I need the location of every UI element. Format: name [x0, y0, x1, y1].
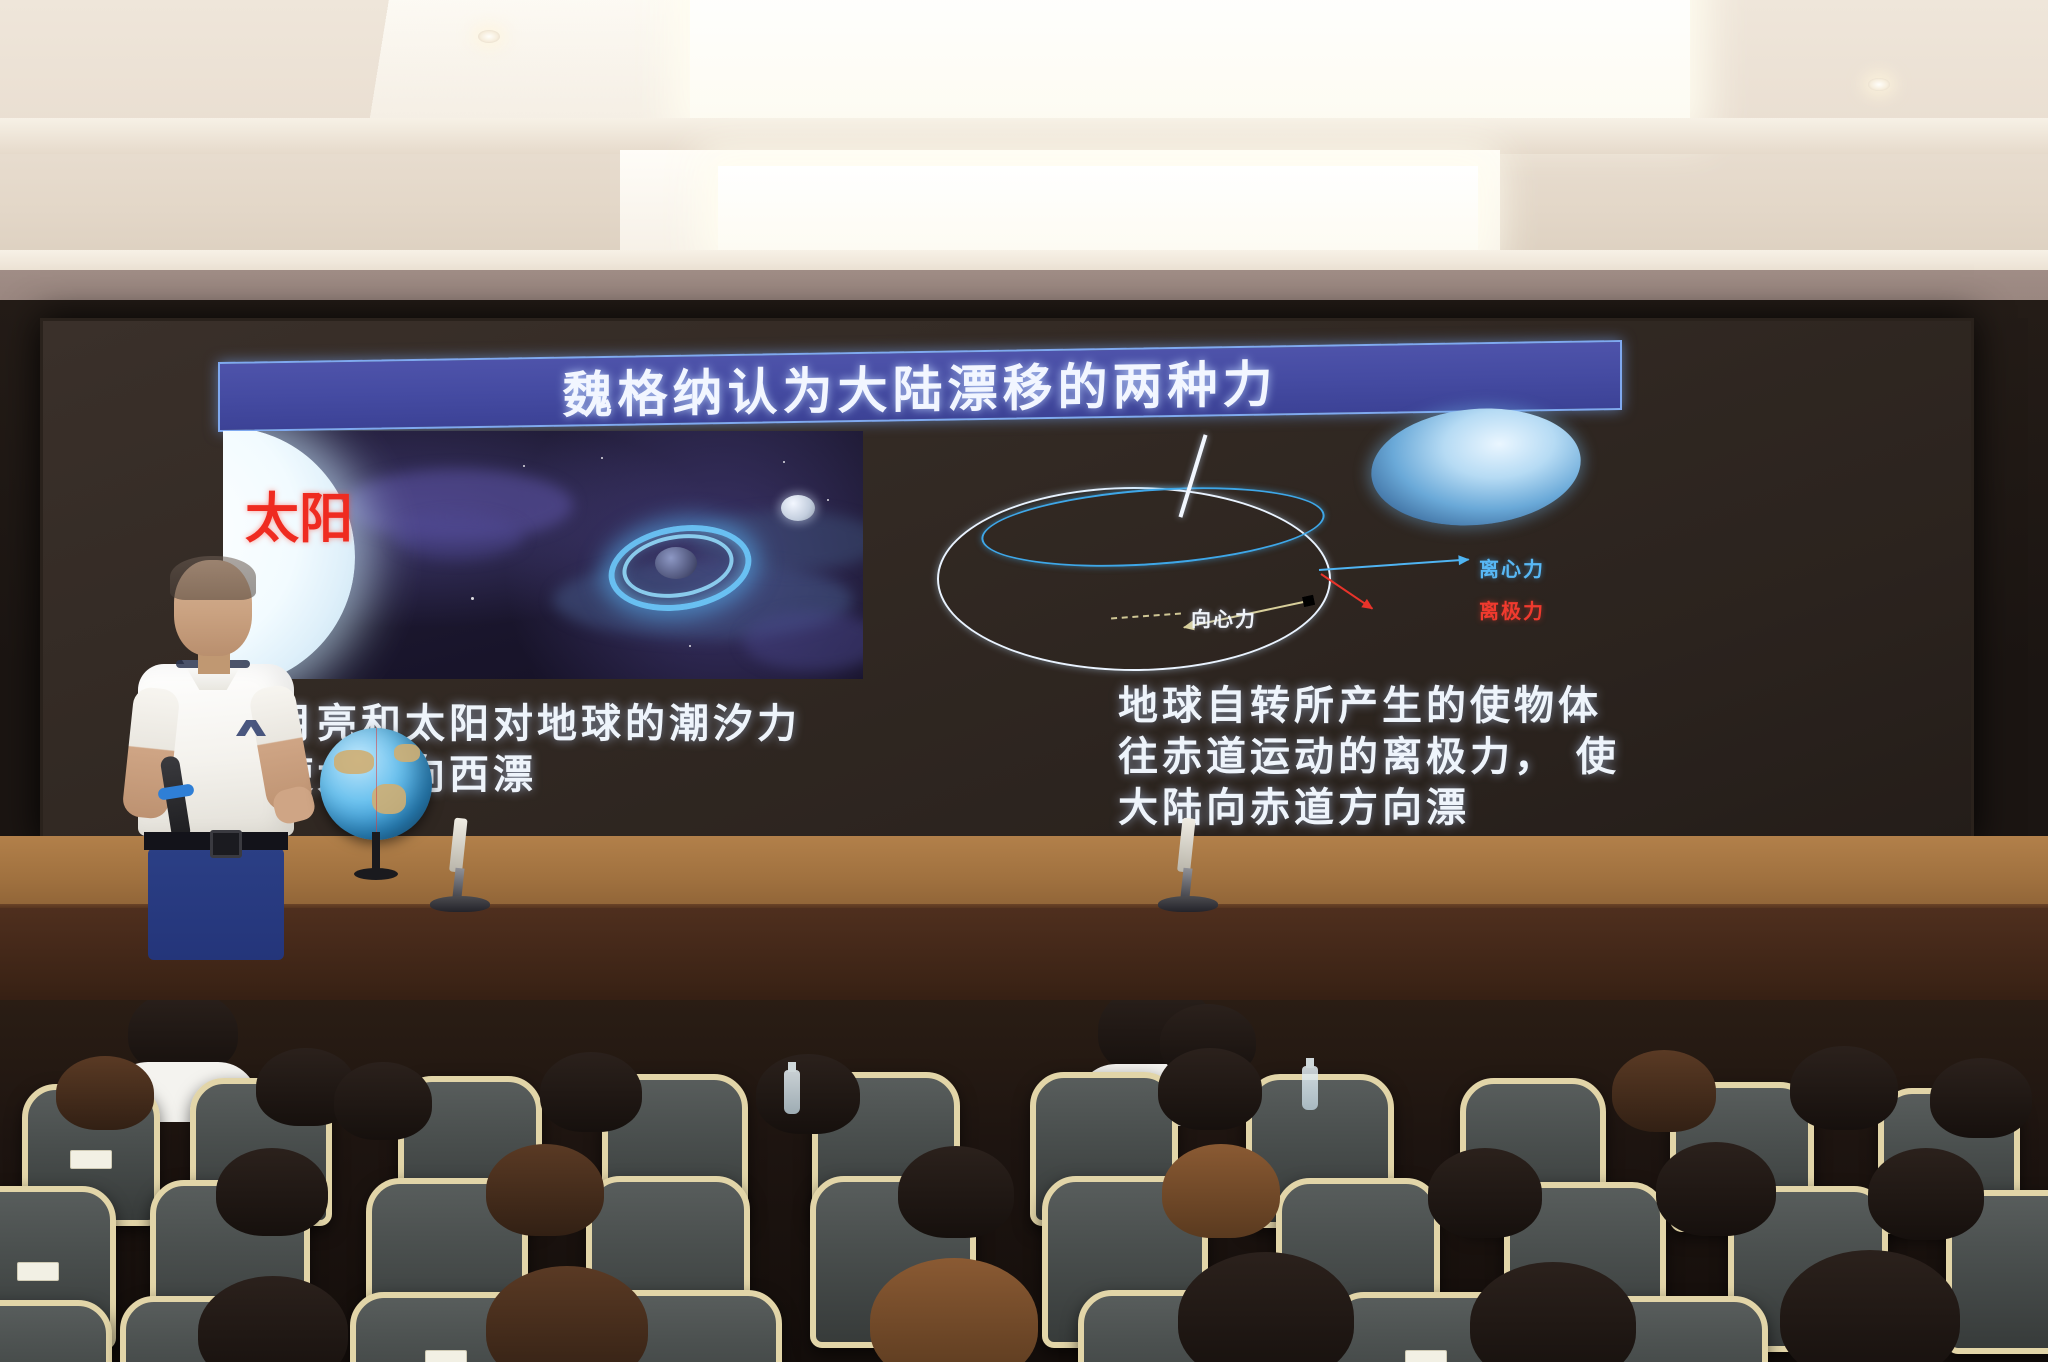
ceiling-light-panel-2 [718, 166, 1478, 252]
audience-head [1656, 1142, 1776, 1236]
globe-prop [320, 728, 432, 840]
sun-label: 太阳 [245, 493, 353, 545]
audience-head [540, 1052, 642, 1132]
lecture-hall-scene: 魏格纳认为大陆漂移的两种力 太阳 [0, 0, 2048, 1362]
seat[interactable] [0, 1300, 112, 1362]
ceiling-light-panel-1 [690, 0, 1690, 120]
water-bottle [784, 1070, 800, 1114]
ceiling [0, 0, 2048, 300]
downlight-icon [478, 30, 500, 43]
audience-head [756, 1054, 860, 1134]
nebula-cloud [393, 515, 523, 559]
polar-fleeing-force-label: 离极力 [1479, 595, 1545, 624]
audience-head [334, 1062, 432, 1140]
audience-head [1162, 1144, 1280, 1238]
desk-microphone [430, 812, 490, 912]
audience-head [1790, 1046, 1898, 1130]
audience-head [1868, 1148, 1984, 1240]
speaker-trousers [148, 848, 284, 960]
audience-head [898, 1146, 1014, 1238]
oblate-earth-icon [1366, 400, 1585, 534]
moon-body [781, 495, 815, 521]
audience-head [1930, 1058, 2032, 1138]
audience-head [486, 1144, 604, 1236]
centrifugal-force-arrow [1319, 559, 1469, 571]
slide-space-image: 太阳 [223, 431, 863, 679]
ceiling-beam-1 [0, 118, 2048, 154]
audience-head [1612, 1050, 1716, 1132]
audience-head [1158, 1048, 1262, 1130]
audience-area [0, 1000, 2048, 1362]
downlight-icon [1868, 78, 1890, 91]
belt-buckle [210, 830, 242, 858]
globe-stand [354, 832, 398, 886]
desk-microphone [1158, 812, 1218, 912]
earth-body [655, 547, 697, 579]
audience-head [1428, 1148, 1542, 1238]
nebula-cloud [743, 611, 863, 671]
water-bottle [1302, 1066, 1318, 1110]
centripetal-force-label: 向心力 [1191, 603, 1257, 632]
speaker-figure [132, 560, 312, 920]
audience-head [56, 1056, 154, 1130]
slide-rotation-diagram: 离心力 离极力 向心力 [923, 411, 1623, 681]
audience-head [216, 1148, 328, 1236]
centrifugal-force-label: 离心力 [1479, 553, 1545, 582]
speaker-hair [170, 556, 256, 600]
